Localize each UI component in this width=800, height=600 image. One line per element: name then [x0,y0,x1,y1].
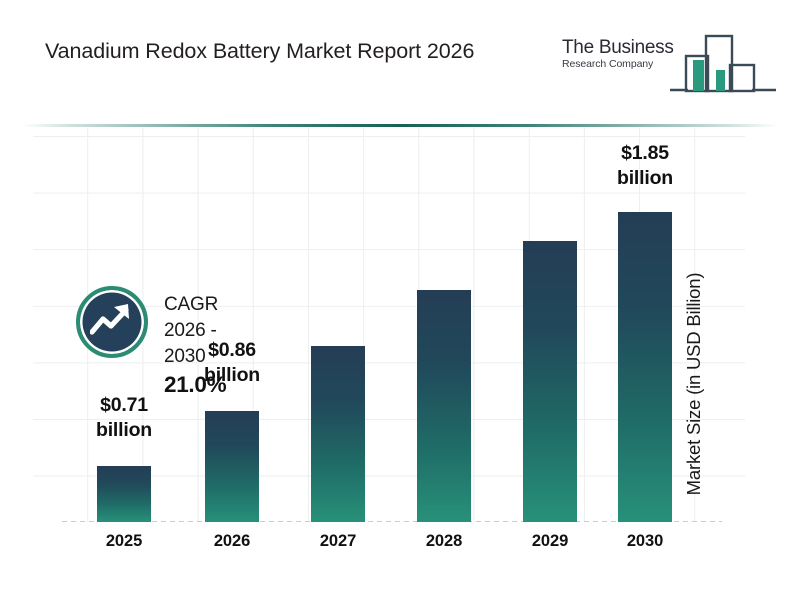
logo-line-primary: The Business [562,38,680,58]
y-axis-label: Market Size (in USD Billion) [683,224,705,544]
x-tick-2028: 2028 [389,532,499,551]
company-logo: The Business Research Company [562,30,787,100]
cagr-range-label: CAGR 2026 - 2030 [164,292,226,370]
cagr-value: 21.0% [164,370,226,400]
x-tick-2025: 2025 [69,532,179,551]
x-tick-2026: 2026 [177,532,287,551]
trending-up-icon [90,302,134,347]
chart-infographic: Vanadium Redox Battery Market Report 202… [0,0,800,600]
logo-wordmark: The Business Research Company [562,38,680,71]
bar-chart-logo-glyph-icon [668,30,778,101]
value-label-2025: $0.71 billion [64,393,184,443]
value-label-2030: $1.85 billion [585,141,705,191]
header: Vanadium Redox Battery Market Report 202… [0,0,800,125]
cagr-text-block: CAGR 2026 - 2030 21.0% [164,292,226,400]
bar-2026 [205,411,259,522]
bar-2027 [311,346,365,522]
header-divider [22,124,778,127]
logo-line-secondary: Research Company [562,58,680,71]
bar-chart: $0.71 billion $0.86 billion $1.85 billio… [0,128,800,600]
bar-2028 [417,290,471,522]
page-title: Vanadium Redox Battery Market Report 202… [45,36,545,67]
bar-2030 [618,212,672,522]
x-tick-2029: 2029 [495,532,605,551]
x-tick-2027: 2027 [283,532,393,551]
bar-2025 [97,466,151,522]
x-axis: 2025 2026 2027 2028 2029 2030 [0,528,800,568]
bar-2029 [523,241,577,522]
